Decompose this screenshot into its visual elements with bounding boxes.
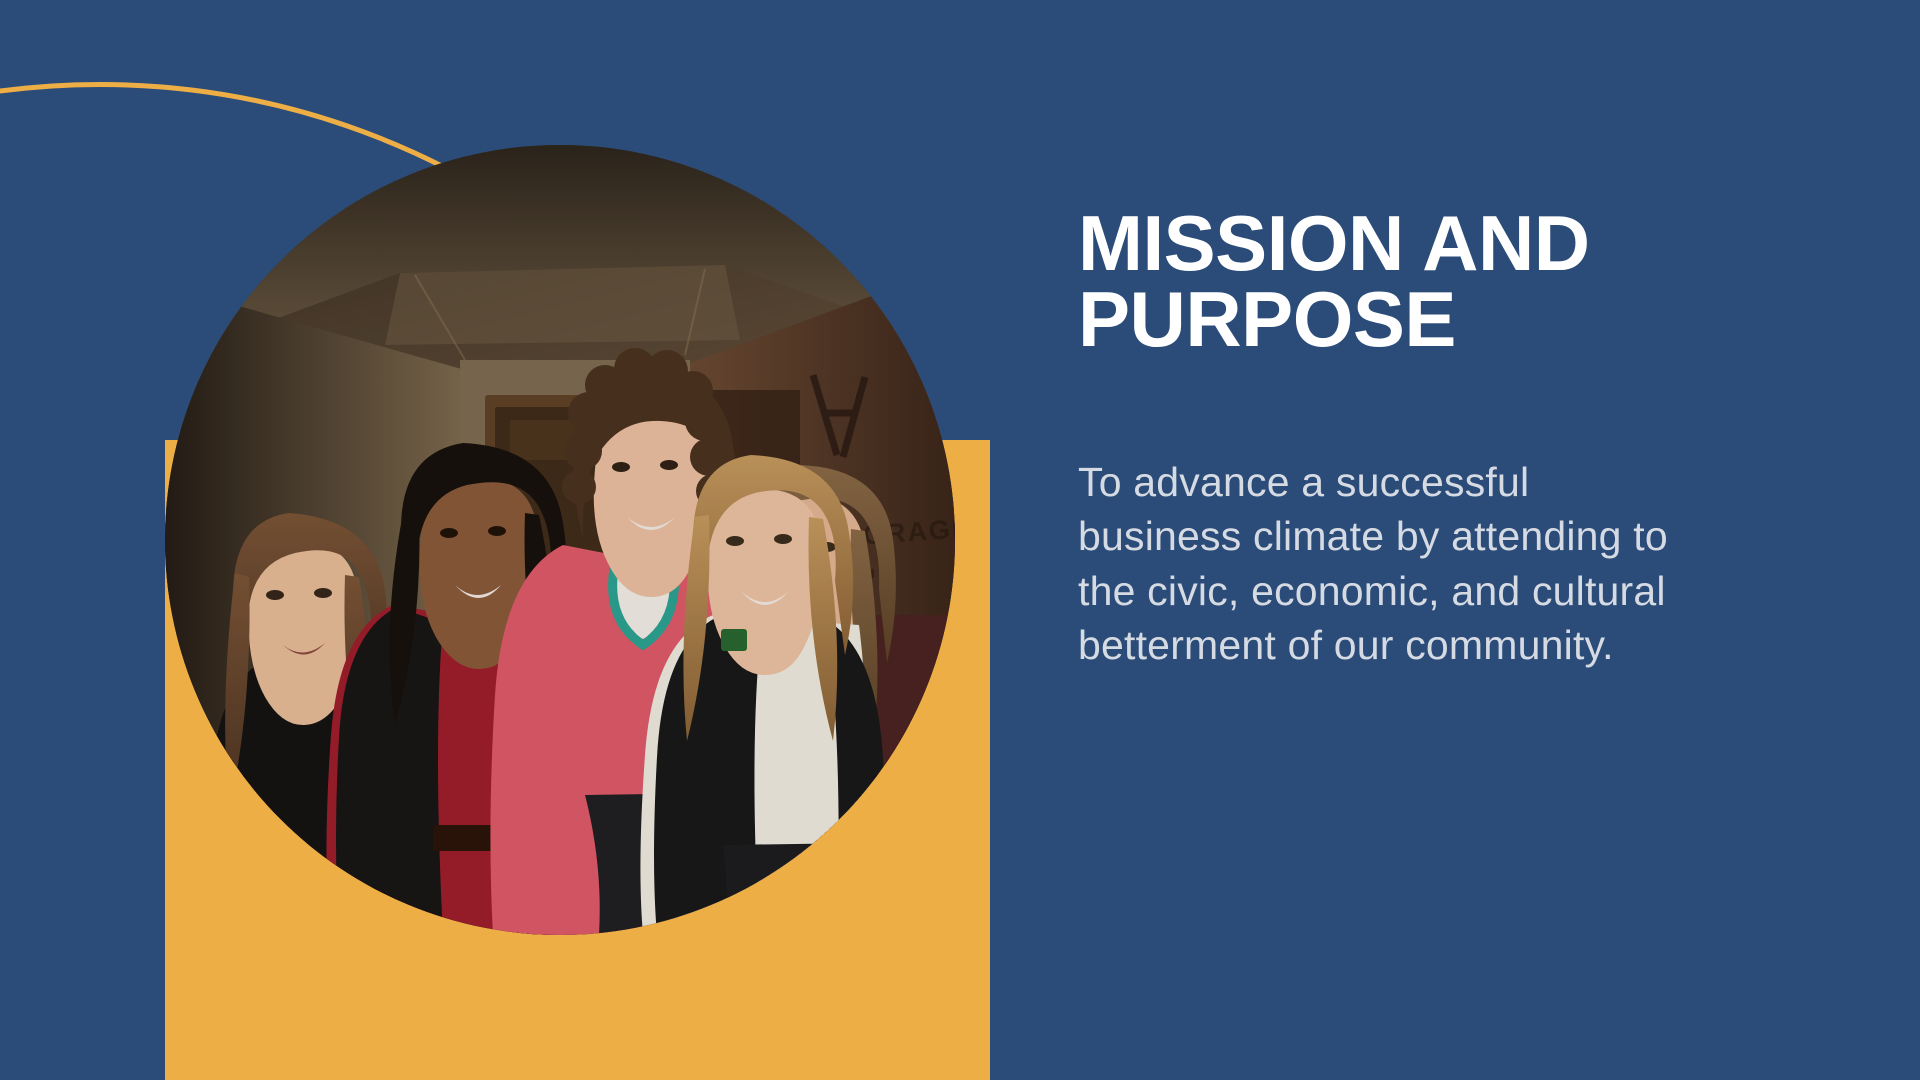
team-photo-circle: ANCHORAGE	[165, 145, 955, 935]
text-column: MISSION AND PURPOSE To advance a success…	[1078, 205, 1778, 673]
slide-canvas: ANCHORAGE	[0, 0, 1920, 1080]
team-photo-illustration: ANCHORAGE	[165, 145, 955, 935]
mission-statement-text: To advance a successful business climate…	[1078, 455, 1678, 673]
page-title: MISSION AND PURPOSE	[1078, 205, 1758, 358]
